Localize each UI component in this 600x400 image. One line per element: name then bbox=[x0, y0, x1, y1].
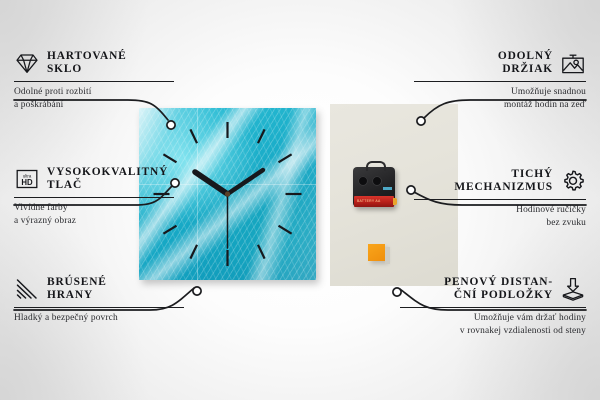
feature-header: ultra HD VYSOKOKVALITNÝ TLAČ bbox=[14, 166, 174, 192]
feature-titles: VYSOKOKVALITNÝ TLAČ bbox=[47, 166, 168, 192]
feature-subtitle: Odolné proti rozbití a poškrábání bbox=[14, 86, 174, 111]
infographic-canvas: BATTERY AA bbox=[0, 0, 600, 400]
ultra-hd-icon-large-text: HD bbox=[21, 178, 33, 187]
feature-header: HARTOVANÉ SKLO bbox=[14, 50, 174, 76]
feature-divider bbox=[400, 307, 586, 308]
gear-icon bbox=[560, 168, 586, 194]
feature-subtitle-line-2: a výrazný obraz bbox=[14, 215, 174, 228]
feature-subtitle-line-1: Odolné proti rozbití bbox=[14, 86, 174, 99]
feature-divider bbox=[414, 199, 586, 200]
feature-divider bbox=[414, 81, 586, 82]
feature-subtitle-line-2: bez zvuku bbox=[414, 217, 586, 230]
feature-title-line-2: HRANY bbox=[47, 289, 107, 302]
feature-titles: ODOLNÝ DRŽIAK bbox=[498, 50, 553, 76]
feature-subtitle: Hladký a bezpečný povrch bbox=[14, 312, 184, 325]
feature-header: TICHÝ MECHANIZMUS bbox=[414, 168, 586, 194]
feature-title-line-2: TLAČ bbox=[47, 179, 168, 192]
feature-tempered-glass: HARTOVANÉ SKLO Odolné proti rozbití a po… bbox=[14, 50, 174, 111]
connector-endpoint-3 bbox=[193, 287, 201, 295]
feature-subtitle-line-1: Vivídne farby bbox=[14, 202, 174, 215]
feature-title-line-1: BRÚSENÉ bbox=[47, 276, 107, 289]
feature-foam-spacers: PENOVÝ DISTAN- ČNÍ PODLOŽKY Umožňuje vám… bbox=[400, 276, 586, 337]
feature-subtitle-line-2: a poškrábání bbox=[14, 99, 174, 112]
feature-durable-hanger: ODOLNÝ DRŽIAK Umožňuje snadnou montáž ho… bbox=[414, 50, 586, 111]
feature-subtitle-line-1: Umožňuje vám držať hodiny bbox=[400, 312, 586, 325]
feature-header: PENOVÝ DISTAN- ČNÍ PODLOŽKY bbox=[400, 276, 586, 302]
feature-subtitle: Umožňuje vám držať hodiny v rovnakej vzd… bbox=[400, 312, 586, 337]
feature-hd-print: ultra HD VYSOKOKVALITNÝ TLAČ Vivídne far… bbox=[14, 166, 174, 227]
feature-title-line-1: TICHÝ bbox=[454, 168, 553, 181]
feature-divider bbox=[14, 197, 174, 198]
foam-spacer-icon bbox=[560, 276, 586, 302]
feature-divider bbox=[14, 307, 184, 308]
feature-titles: HARTOVANÉ SKLO bbox=[47, 50, 127, 76]
feature-subtitle-line-1: Umožňuje snadnou bbox=[414, 86, 586, 99]
feature-subtitle-line-2: montáž hodin na zeď bbox=[414, 99, 586, 112]
feature-title-line-2: DRŽIAK bbox=[498, 63, 553, 76]
feature-subtitle: Vivídne farby a výrazný obraz bbox=[14, 202, 174, 227]
feature-silent-mechanism: TICHÝ MECHANIZMUS Hodinové ručičky bez z… bbox=[414, 168, 586, 229]
ultra-hd-icon: ultra HD bbox=[14, 166, 40, 192]
feature-subtitle-line-2: v rovnakej vzdialenosti od steny bbox=[400, 325, 586, 338]
feature-title-line-2: ČNÍ PODLOŽKY bbox=[444, 289, 553, 302]
connector-endpoint-1 bbox=[167, 121, 175, 129]
feature-header: BRÚSENÉ HRANY bbox=[14, 276, 184, 302]
feature-titles: PENOVÝ DISTAN- ČNÍ PODLOŽKY bbox=[444, 276, 553, 302]
connector-endpoint-4 bbox=[417, 117, 425, 125]
feature-title-line-2: MECHANIZMUS bbox=[454, 181, 553, 194]
feature-subtitle-line-1: Hodinové ručičky bbox=[414, 204, 586, 217]
feature-title-line-2: SKLO bbox=[47, 63, 127, 76]
feature-title-line-1: VYSOKOKVALITNÝ bbox=[47, 166, 168, 179]
feature-title-line-1: PENOVÝ DISTAN- bbox=[444, 276, 553, 289]
feature-title-line-1: ODOLNÝ bbox=[498, 50, 553, 63]
ground-edges-icon bbox=[14, 276, 40, 302]
feature-title-line-1: HARTOVANÉ bbox=[47, 50, 127, 63]
feature-ground-edges: BRÚSENÉ HRANY Hladký a bezpečný povrch bbox=[14, 276, 184, 325]
feature-subtitle-line-1: Hladký a bezpečný povrch bbox=[14, 312, 184, 325]
picture-hanger-icon bbox=[560, 50, 586, 76]
feature-subtitle: Hodinové ručičky bez zvuku bbox=[414, 204, 586, 229]
feature-divider bbox=[14, 81, 174, 82]
connector-endpoints bbox=[167, 117, 425, 296]
feature-titles: TICHÝ MECHANIZMUS bbox=[454, 168, 553, 194]
feature-header: ODOLNÝ DRŽIAK bbox=[414, 50, 586, 76]
diamond-icon bbox=[14, 50, 40, 76]
feature-subtitle: Umožňuje snadnou montáž hodin na zeď bbox=[414, 86, 586, 111]
feature-titles: BRÚSENÉ HRANY bbox=[47, 276, 107, 302]
